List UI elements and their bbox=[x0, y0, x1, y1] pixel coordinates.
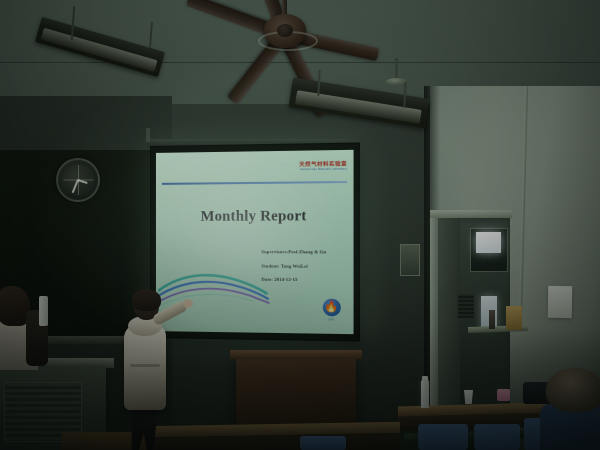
slide-meta-supervisors: Supervisors:Prof.Zhang & Gu bbox=[261, 249, 326, 254]
slide-flame-emblem: 🔥 CNG bbox=[320, 299, 343, 326]
slide-header-rule bbox=[162, 181, 347, 185]
door-header bbox=[430, 210, 512, 218]
ceiling-fan-icon bbox=[178, 0, 408, 80]
classroom-scene: 天然气材料实验室 Natural Gas Materials Laborator… bbox=[0, 0, 600, 450]
slide-lab-logo: 天然气材料实验室 Natural Gas Materials Laborator… bbox=[299, 162, 347, 172]
wall-control-panel[interactable] bbox=[400, 244, 420, 276]
slide-meta-date: Date: 2014-12-15 bbox=[261, 277, 326, 283]
student-right-hair bbox=[546, 368, 600, 412]
screen-roller-arm bbox=[146, 128, 150, 142]
slide-title: Monthly Report bbox=[156, 208, 354, 226]
presenter-hand bbox=[183, 299, 193, 308]
presenter-legs bbox=[130, 406, 160, 450]
window-light-panel bbox=[476, 232, 501, 253]
emblem-circle: 🔥 bbox=[322, 299, 340, 317]
chair-1[interactable] bbox=[418, 424, 468, 450]
wall-paper-notice bbox=[548, 286, 573, 318]
student-right-foreground bbox=[540, 368, 600, 450]
pink-box[interactable] bbox=[497, 389, 510, 401]
fan-cap bbox=[277, 24, 293, 37]
slide-meta-block: Supervisors:Prof.Zhang & Gu Student: Tan… bbox=[261, 249, 326, 291]
water-bottle[interactable] bbox=[421, 380, 429, 408]
desk-bottle-left[interactable] bbox=[39, 296, 48, 326]
clock-face bbox=[62, 164, 94, 196]
ledge-box bbox=[506, 306, 522, 330]
presenter bbox=[112, 286, 184, 450]
presenter-hair bbox=[132, 289, 161, 311]
presenter-coat-belt bbox=[130, 364, 160, 367]
ledge-object bbox=[489, 310, 495, 329]
wall-clock-icon bbox=[56, 158, 100, 202]
flame-icon: 🔥 bbox=[324, 302, 338, 314]
clock-center-pin bbox=[77, 179, 80, 182]
slide-meta-student: Student: Tang WeiLei bbox=[261, 263, 326, 268]
slide-logo-en-text: Natural Gas Materials Laboratory bbox=[299, 169, 347, 172]
chair-3[interactable] bbox=[300, 436, 346, 450]
emblem-caption: CNG bbox=[320, 318, 343, 321]
wooden-lectern bbox=[236, 356, 356, 426]
lectern-top bbox=[230, 350, 362, 359]
paper-cup[interactable] bbox=[464, 390, 473, 404]
chair-2[interactable] bbox=[474, 424, 520, 450]
door-vent-grille bbox=[458, 294, 474, 318]
presenter-coat bbox=[124, 324, 166, 410]
